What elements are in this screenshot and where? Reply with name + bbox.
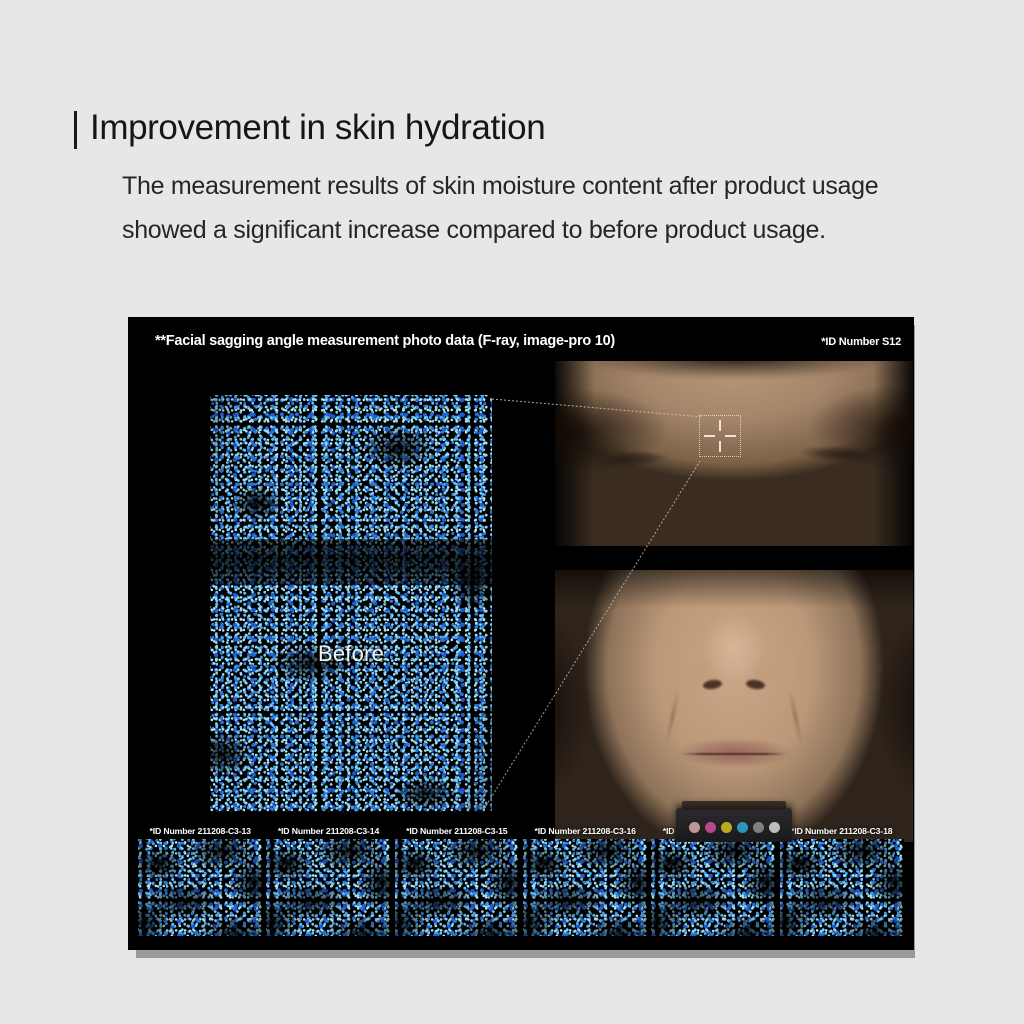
color-calibration-chart bbox=[676, 808, 792, 842]
thumbnail-image bbox=[138, 839, 262, 936]
color-swatch-4 bbox=[753, 822, 764, 833]
thumbnail-strip: *ID Number 211208-C3-13 *ID Number 21120… bbox=[138, 826, 904, 936]
before-caption-band bbox=[210, 539, 492, 585]
thumbnail-cell: *ID Number 211208-C3-15 bbox=[395, 826, 519, 936]
crosshair-reticle-icon bbox=[699, 415, 741, 457]
thumbnail-image bbox=[780, 839, 904, 936]
page-title: Improvement in skin hydration bbox=[90, 108, 545, 148]
thumbnail-image bbox=[651, 839, 775, 936]
thumbnail-label: *ID Number 211208-C3-13 bbox=[138, 826, 262, 836]
thumbnail-cell: *ID Number 211208-C3-13 bbox=[138, 826, 262, 936]
figure-panel-header: **Facial sagging angle measurement photo… bbox=[128, 333, 914, 359]
thumbnail-label: *ID Number 211208-C3-16 bbox=[523, 826, 647, 836]
fluorescence-image-main: Before 4 Weeks After bbox=[210, 395, 492, 812]
figure-panel: **Facial sagging angle measurement photo… bbox=[128, 317, 914, 950]
forehead-photo bbox=[555, 361, 913, 546]
heading-block: Improvement in skin hydration The measur… bbox=[74, 108, 934, 252]
hairline-shading bbox=[555, 361, 913, 387]
thumbnail-label: *ID Number 211208-C3-18 bbox=[780, 826, 904, 836]
thumbnail-cell: *ID Number 211208-C3-14 bbox=[266, 826, 390, 936]
figure-header-id: *ID Number S12 bbox=[821, 336, 901, 348]
thumbnail-cell: *ID Number 211208-C3-18 bbox=[780, 826, 904, 936]
figure-header-note: **Facial sagging angle measurement photo… bbox=[155, 333, 615, 349]
color-swatch-0 bbox=[689, 822, 700, 833]
title-accent-bar bbox=[74, 111, 77, 149]
lip-line bbox=[682, 753, 786, 755]
thumbnail-image bbox=[523, 839, 647, 936]
color-swatch-5 bbox=[769, 822, 780, 833]
thumbnail-label: *ID Number 211208-C3-15 bbox=[395, 826, 519, 836]
lower-face-photo bbox=[555, 570, 913, 842]
page-subtitle: The measurement results of skin moisture… bbox=[122, 164, 912, 252]
color-swatch-2 bbox=[721, 822, 732, 833]
thumbnail-cell: *ID Number 211208-C3-17 bbox=[651, 826, 775, 936]
thumbnail-cell: *ID Number 211208-C3-16 bbox=[523, 826, 647, 936]
before-caption: Before bbox=[210, 641, 492, 667]
thumbnail-image bbox=[266, 839, 390, 936]
page-title-row: Improvement in skin hydration bbox=[74, 108, 934, 149]
thumbnail-image bbox=[395, 839, 519, 936]
nose-region bbox=[690, 608, 778, 704]
thumbnail-label: *ID Number 211208-C3-14 bbox=[266, 826, 390, 836]
color-swatch-1 bbox=[705, 822, 716, 833]
color-swatch-3 bbox=[737, 822, 748, 833]
